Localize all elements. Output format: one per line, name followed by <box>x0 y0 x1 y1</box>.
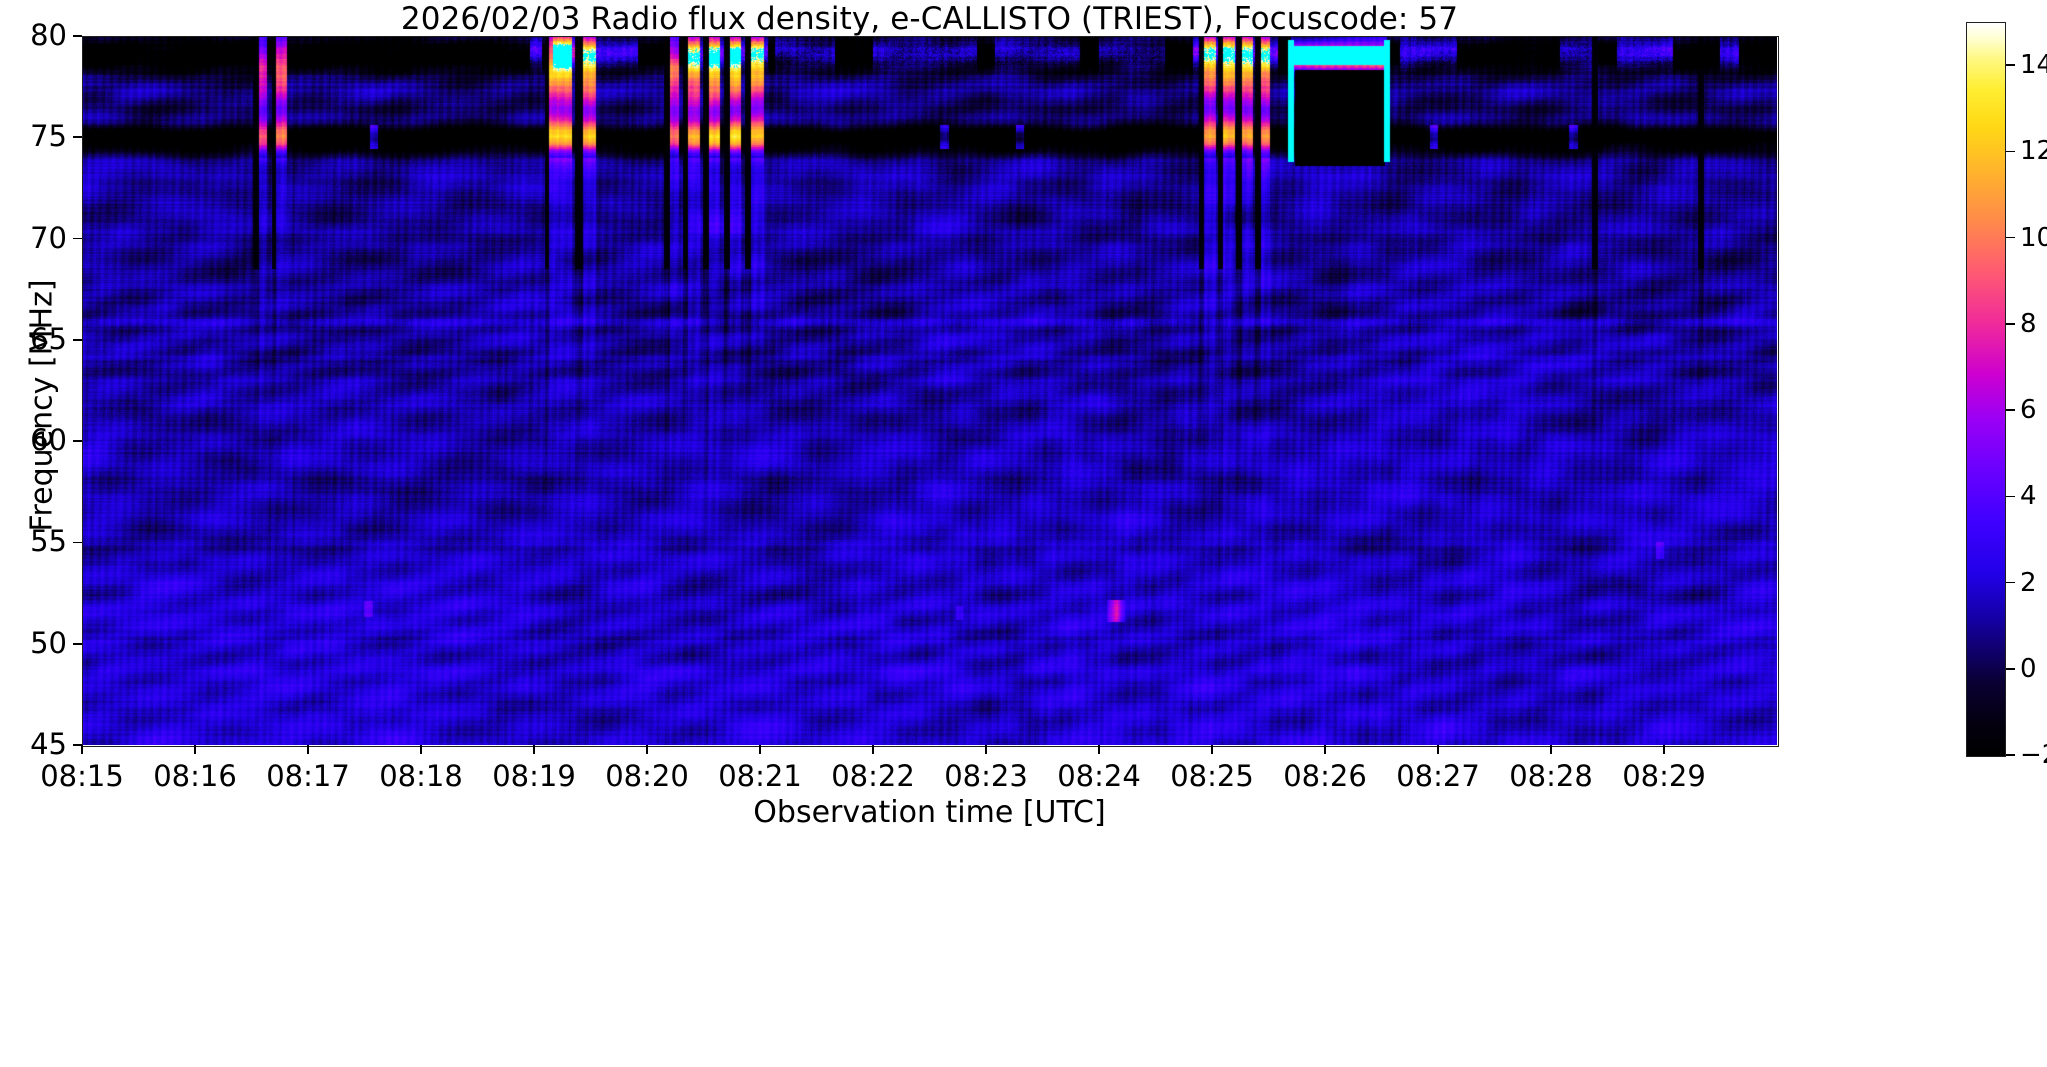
colorbar-tick-mark <box>2006 496 2015 498</box>
x-tick-mark <box>194 745 196 754</box>
colorbar-tick-label: 6 <box>2020 397 2037 423</box>
page-title: 2026/02/03 Radio flux density, e-CALLIST… <box>82 2 1777 36</box>
y-tick-label: 45 <box>0 730 67 759</box>
colorbar-tick-label: 4 <box>2020 483 2037 509</box>
x-tick-mark <box>533 745 535 754</box>
x-tick-mark <box>1663 745 1665 754</box>
colorbar-tick-label: 0 <box>2020 656 2037 682</box>
x-tick-mark <box>1098 745 1100 754</box>
colorbar-tick-mark <box>2006 582 2015 584</box>
x-tick-mark <box>646 745 648 754</box>
y-tick-label: 60 <box>0 426 67 455</box>
colorbar-tick-mark <box>2006 323 2015 325</box>
x-axis-label: Observation time [UTC] <box>82 795 1777 830</box>
x-tick-mark <box>759 745 761 754</box>
y-tick-label: 55 <box>0 527 67 556</box>
y-tick-mark <box>73 643 82 645</box>
colorbar[interactable] <box>1966 22 2006 757</box>
x-tick-mark <box>307 745 309 754</box>
y-tick-label: 70 <box>0 224 67 253</box>
y-tick-label: 50 <box>0 629 67 658</box>
spectrogram-plot-area[interactable] <box>82 36 1777 745</box>
x-tick-label: 08:29 <box>1584 761 1744 791</box>
x-tick-mark <box>985 745 987 754</box>
spectrogram-heatmap <box>82 36 1777 745</box>
x-tick-mark <box>420 745 422 754</box>
y-tick-mark <box>73 440 82 442</box>
colorbar-tick-label: 14 <box>2020 52 2047 78</box>
y-tick-mark <box>73 542 82 544</box>
colorbar-tick-mark <box>2006 151 2015 153</box>
colorbar-tick-mark <box>2006 754 2015 756</box>
y-tick-mark <box>73 339 82 341</box>
spectrogram-figure: 2026/02/03 Radio flux density, e-CALLIST… <box>0 0 2047 1067</box>
y-tick-mark <box>73 136 82 138</box>
x-tick-mark <box>1324 745 1326 754</box>
colorbar-tick-label: 10 <box>2020 225 2047 251</box>
colorbar-tick-mark <box>2006 409 2015 411</box>
y-tick-mark <box>73 35 82 37</box>
colorbar-tick-label: −2 <box>2020 742 2047 768</box>
y-tick-mark <box>73 238 82 240</box>
y-tick-label: 80 <box>0 21 67 50</box>
colorbar-tick-label: 12 <box>2020 138 2047 164</box>
colorbar-tick-mark <box>2006 64 2015 66</box>
colorbar-tick-mark <box>2006 668 2015 670</box>
y-tick-label: 65 <box>0 325 67 354</box>
colorbar-tick-label: 8 <box>2020 311 2037 337</box>
colorbar-tick-label: 2 <box>2020 570 2037 596</box>
x-tick-mark <box>1437 745 1439 754</box>
y-tick-label: 75 <box>0 122 67 151</box>
colorbar-tick-mark <box>2006 237 2015 239</box>
x-tick-mark <box>872 745 874 754</box>
x-tick-mark <box>81 745 83 754</box>
x-tick-mark <box>1211 745 1213 754</box>
x-tick-mark <box>1550 745 1552 754</box>
